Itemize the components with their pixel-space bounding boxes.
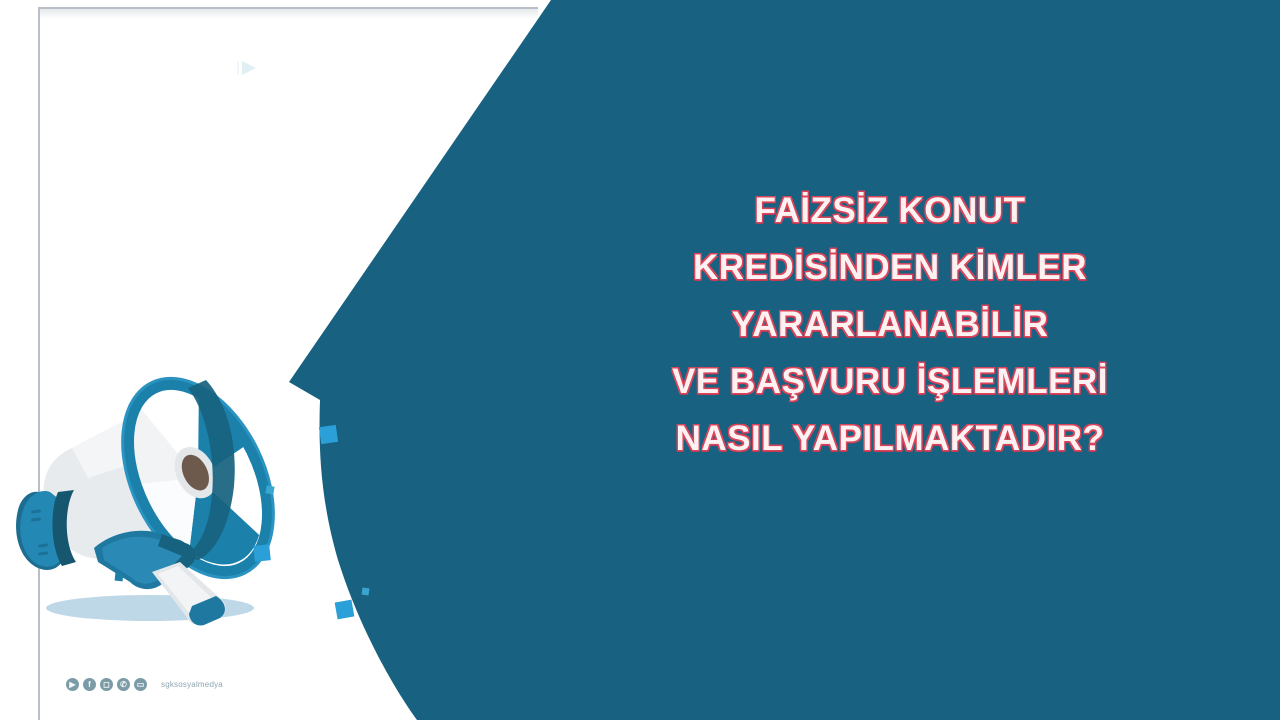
facebook-glyph: f (88, 681, 91, 689)
accent-square (362, 588, 370, 596)
instagram-glyph: ◻ (103, 681, 110, 689)
footer-social-row: ▶ f ◻ ✆ ▭ sgksosyalmedya (66, 678, 223, 691)
youtube-glyph: ▶ (69, 681, 75, 689)
accent-square (253, 544, 271, 562)
twitter-icon[interactable]: ✆ (117, 678, 130, 691)
accent-square (319, 425, 338, 444)
social-handle: sgksosyalmedya (161, 680, 223, 689)
headline-line-1: FAİZSİZ KONUT (540, 182, 1240, 239)
accent-square (265, 485, 274, 494)
accent-square (115, 573, 124, 582)
page-title: FAİZSİZ KONUT KREDİSİNDEN KİMLER YARARLA… (540, 182, 1240, 467)
headline-line-3: YARARLANABİLİR (540, 296, 1240, 353)
megaphone-illustration (2, 296, 302, 626)
instagram-icon[interactable]: ◻ (100, 678, 113, 691)
poster-canvas: ▶ f ◻ ✆ ▭ sgksosyalmedya FAİZSİZ KONUT K… (0, 0, 1280, 720)
headline-line-4: VE BAŞVURU İŞLEMLERİ (540, 353, 1240, 410)
youtube-icon[interactable]: ▶ (66, 678, 79, 691)
accent-square (335, 600, 355, 620)
headline-line-2: KREDİSİNDEN KİMLER (540, 239, 1240, 296)
facebook-icon[interactable]: f (83, 678, 96, 691)
linkedin-icon[interactable]: ▭ (134, 678, 147, 691)
twitter-glyph: ✆ (120, 681, 127, 689)
headline-line-5: NASIL YAPILMAKTADIR? (540, 410, 1240, 467)
linkedin-glyph: ▭ (137, 681, 145, 689)
